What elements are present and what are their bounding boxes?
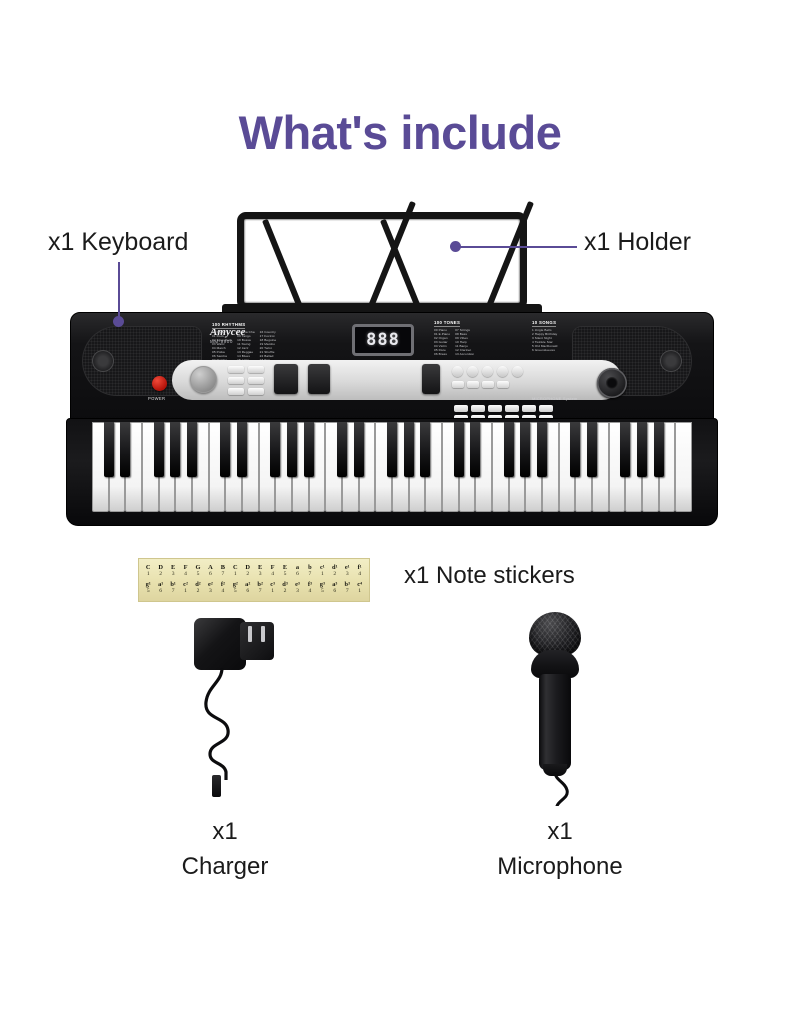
panel-button-dark[interactable] (422, 364, 440, 394)
charger-dc-plug (212, 775, 221, 797)
power-label: POWER (148, 396, 165, 401)
piano-black-key[interactable] (587, 422, 597, 477)
keyboard-leader-line (118, 262, 120, 320)
panel-button[interactable] (228, 366, 244, 373)
note-sticker-number: 7 (167, 589, 179, 595)
note-sticker-cell: f³4 (304, 582, 316, 595)
note-sticker-number: 3 (291, 589, 303, 595)
piano-black-key[interactable] (454, 422, 464, 477)
note-sticker-cell: e¹3 (341, 565, 353, 578)
sticker-row-1: C1D2E3F4G5A6B7C1D2E3F4E5a6b7c¹1d¹2e¹3f¹4 (142, 565, 366, 578)
product-included-items-page: What's include Amycee MM-9900 100 RHYTHM… (0, 0, 800, 1024)
note-sticker-number: 3 (341, 572, 353, 578)
note-sticker-number: 2 (192, 589, 204, 595)
note-sticker-cell: c¹1 (316, 565, 328, 578)
note-sticker-number: 7 (254, 589, 266, 595)
holder-callout-dot (450, 241, 461, 252)
piano-black-key[interactable] (154, 422, 164, 477)
microphone-handle (539, 674, 571, 770)
note-sticker-cell: d¹2 (329, 565, 341, 578)
piano-black-key[interactable] (654, 422, 664, 477)
piano-black-key[interactable] (470, 422, 480, 477)
piano-black-key[interactable] (637, 422, 647, 477)
note-sticker-cell: E5 (279, 565, 291, 578)
music-stand-holder (237, 212, 527, 310)
charger-product-image (186, 612, 286, 797)
note-sticker-cell: g²5 (229, 582, 241, 595)
piano-black-key[interactable] (387, 422, 397, 477)
page-title: What's include (0, 105, 800, 160)
piano-black-key[interactable] (620, 422, 630, 477)
charger-label: x1 Charger (150, 815, 300, 885)
note-sticker-cell: F4 (266, 565, 278, 578)
note-sticker-cell: B7 (217, 565, 229, 578)
charger-prong (248, 626, 252, 642)
note-sticker-cell: b²7 (254, 582, 266, 595)
holder-leader-line (455, 246, 577, 248)
microphone-product-image (515, 612, 595, 802)
note-sticker-cell: d³2 (279, 582, 291, 595)
note-sticker-number: 4 (179, 572, 191, 578)
piano-black-key[interactable] (537, 422, 547, 477)
panel-button[interactable] (228, 388, 244, 395)
piano-black-key[interactable] (354, 422, 364, 477)
note-sticker-number: 4 (266, 572, 278, 578)
piano-black-key[interactable] (504, 422, 514, 477)
note-sticker-cell: G5 (192, 565, 204, 578)
microphone-jack-icon[interactable] (597, 368, 627, 398)
note-sticker-cell: c²1 (179, 582, 191, 595)
note-sticker-cell: E3 (254, 565, 266, 578)
note-sticker-cell: d²2 (192, 582, 204, 595)
piano-black-key[interactable] (170, 422, 180, 477)
note-sticker-number: 1 (179, 589, 191, 595)
note-sticker-cell: f²4 (217, 582, 229, 595)
note-sticker-number: 5 (142, 589, 154, 595)
note-sticker-number: 4 (353, 572, 365, 578)
note-stickers-label: x1 Note stickers (404, 562, 575, 590)
numeric-button-row-1[interactable] (454, 405, 553, 412)
note-sticker-number: 7 (304, 572, 316, 578)
piano-black-key[interactable] (520, 422, 530, 477)
note-sticker-cell: a¹6 (154, 582, 166, 595)
percussion-button-row[interactable] (452, 366, 523, 377)
sticker-row-2: g¹5a¹6b¹7c²1d²2e²3f²4g²5a²6b²7c³1d³2e³3f… (142, 582, 366, 595)
note-sticker-cell: e²3 (204, 582, 216, 595)
keyboard-label: x1 Keyboard (48, 228, 188, 257)
rhythms-spec-list: 100 RHYTHMS 00 Disco01 Rock02 Slow Rock0… (212, 322, 322, 362)
microphone-label: x1 Microphone (470, 815, 650, 885)
piano-black-key[interactable] (404, 422, 414, 477)
note-sticker-cell: a6 (291, 565, 303, 578)
note-sticker-cell: a²6 (242, 582, 254, 595)
speaker-icon (660, 350, 682, 372)
note-sticker-cell: c³1 (266, 582, 278, 595)
keyboard-callout-dot (113, 316, 124, 327)
charger-prong (261, 626, 265, 642)
note-sticker-cell: b7 (304, 565, 316, 578)
panel-button[interactable] (248, 388, 264, 395)
note-sticker-number: 5 (192, 572, 204, 578)
note-sticker-cell: A6 (204, 565, 216, 578)
note-sticker-number: 1 (266, 589, 278, 595)
note-sticker-number: 2 (329, 572, 341, 578)
note-sticker-number: 1 (316, 572, 328, 578)
note-sticker-number: 5 (316, 589, 328, 595)
note-sticker-number: 6 (329, 589, 341, 595)
microphone-system-label: MICROPHONE System (532, 396, 577, 401)
panel-button[interactable] (248, 366, 264, 373)
note-sticker-number: 5 (229, 589, 241, 595)
panel-button-dark[interactable] (274, 364, 298, 394)
charger-cable-svg (196, 668, 266, 780)
piano-black-key[interactable] (337, 422, 347, 477)
piano-black-key[interactable] (187, 422, 197, 477)
note-sticker-cell: g¹5 (142, 582, 154, 595)
piano-black-key[interactable] (270, 422, 280, 477)
charger-cable (196, 668, 266, 780)
note-sticker-number: 2 (279, 589, 291, 595)
speaker-icon (92, 350, 114, 372)
piano-black-key[interactable] (304, 422, 314, 477)
panel-button[interactable] (248, 377, 264, 384)
note-sticker-number: 1 (229, 572, 241, 578)
note-sticker-number: 3 (204, 589, 216, 595)
piano-black-key[interactable] (287, 422, 297, 477)
note-sticker-number: 1 (142, 572, 154, 578)
charger-prong-plate (240, 622, 274, 660)
note-sticker-cell: C1 (229, 565, 241, 578)
note-sticker-cell: F4 (179, 565, 191, 578)
note-sticker-number: 6 (154, 589, 166, 595)
microphone-cable (543, 772, 593, 806)
piano-white-key[interactable] (675, 422, 692, 512)
note-sticker-number: 2 (242, 572, 254, 578)
note-sticker-cell: C1 (142, 565, 154, 578)
charger-body (194, 618, 246, 670)
piano-black-key[interactable] (420, 422, 430, 477)
piano-keys[interactable] (92, 422, 692, 514)
songs-spec-list: 10 SONGS 1 Jingle Bells2 Happy Birthday3… (532, 320, 594, 352)
piano-black-key[interactable] (220, 422, 230, 477)
note-sticker-cell: g³5 (316, 582, 328, 595)
percussion-button-row-2[interactable] (452, 381, 509, 388)
power-button-icon[interactable] (152, 376, 167, 391)
note-sticker-cell: D2 (242, 565, 254, 578)
piano-black-key[interactable] (237, 422, 247, 477)
note-sticker-number: 6 (291, 572, 303, 578)
note-sticker-number: 7 (217, 572, 229, 578)
volume-knob[interactable] (190, 366, 217, 393)
led-display: 888 (352, 324, 414, 356)
note-sticker-cell: D2 (154, 565, 166, 578)
note-sticker-cell: b³7 (341, 582, 353, 595)
note-sticker-number: 6 (242, 589, 254, 595)
note-sticker-cell: b¹7 (167, 582, 179, 595)
note-sticker-number: 6 (204, 572, 216, 578)
note-sticker-number: 1 (353, 589, 365, 595)
piano-black-key[interactable] (120, 422, 130, 477)
piano-black-key[interactable] (570, 422, 580, 477)
note-sticker-number: 2 (154, 572, 166, 578)
panel-button[interactable] (228, 377, 244, 384)
holder-label: x1 Holder (584, 228, 691, 257)
tones-spec-list: 100 TONES 00 Piano01 E.Piano02 Organ03 G… (434, 320, 522, 356)
note-sticker-cell: e³3 (291, 582, 303, 595)
piano-black-key[interactable] (104, 422, 114, 477)
note-sticker-number: 4 (217, 589, 229, 595)
note-sticker-cell: a³6 (329, 582, 341, 595)
note-stickers-image: C1D2E3F4G5A6B7C1D2E3F4E5a6b7c¹1d¹2e¹3f¹4… (138, 558, 370, 602)
note-sticker-number: 5 (279, 572, 291, 578)
note-sticker-number: 3 (254, 572, 266, 578)
note-sticker-number: 4 (304, 589, 316, 595)
panel-button-dark[interactable] (308, 364, 330, 394)
note-sticker-cell: E3 (167, 565, 179, 578)
note-sticker-cell: f¹4 (353, 565, 365, 578)
note-sticker-cell: c⁴1 (353, 582, 365, 595)
note-sticker-number: 7 (341, 589, 353, 595)
note-sticker-number: 3 (167, 572, 179, 578)
